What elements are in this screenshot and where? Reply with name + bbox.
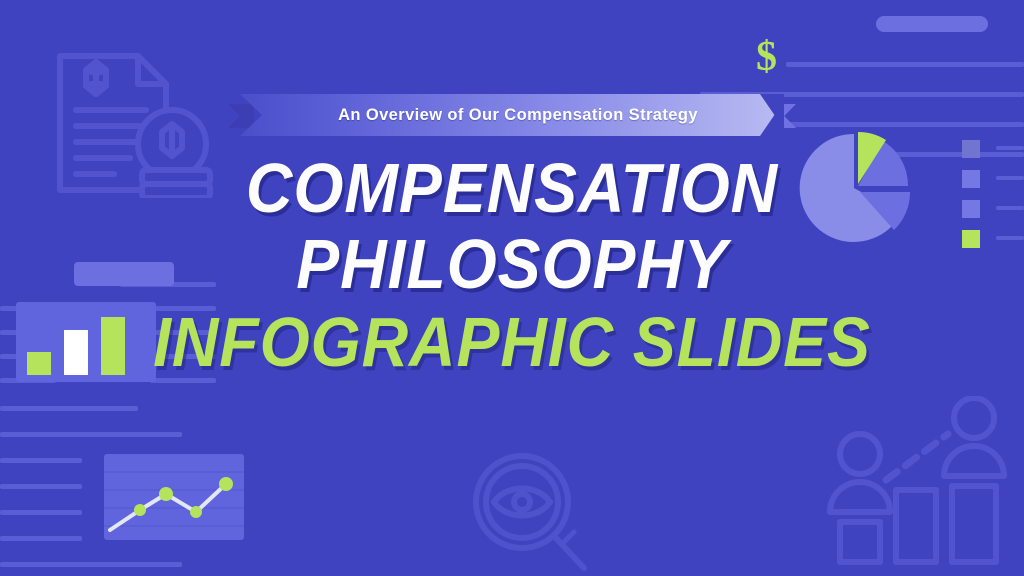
decor-pill <box>876 16 988 32</box>
decor-line <box>0 562 182 567</box>
decor-line <box>786 122 1024 127</box>
subtitle-text: An Overview of Our Compensation Strategy <box>324 106 698 125</box>
subtitle-ribbon: An Overview of Our Compensation Strategy <box>240 94 782 136</box>
decor-line <box>0 484 82 489</box>
title-line-infographic-slides: INFOGRAPHIC SLIDES <box>41 302 983 382</box>
magnifier-eye-icon <box>468 450 588 576</box>
title-slide: $ <box>0 0 1024 576</box>
decor-line <box>0 510 82 515</box>
page-title: COMPENSATION PHILOSOPHY INFOGRAPHIC SLID… <box>0 150 1024 382</box>
people-growth-chart-icon <box>824 396 1014 576</box>
decor-line <box>786 62 1024 67</box>
title-line-philosophy: PHILOSOPHY <box>41 226 983 302</box>
decor-line <box>0 432 182 437</box>
decor-line <box>0 536 82 541</box>
line-chart-panel <box>104 454 244 540</box>
decor-line <box>0 406 138 411</box>
decor-line <box>0 458 82 463</box>
title-line-compensation: COMPENSATION <box>41 150 983 226</box>
ribbon-tail-left <box>228 104 254 128</box>
dollar-sign-icon: $ <box>756 36 777 78</box>
